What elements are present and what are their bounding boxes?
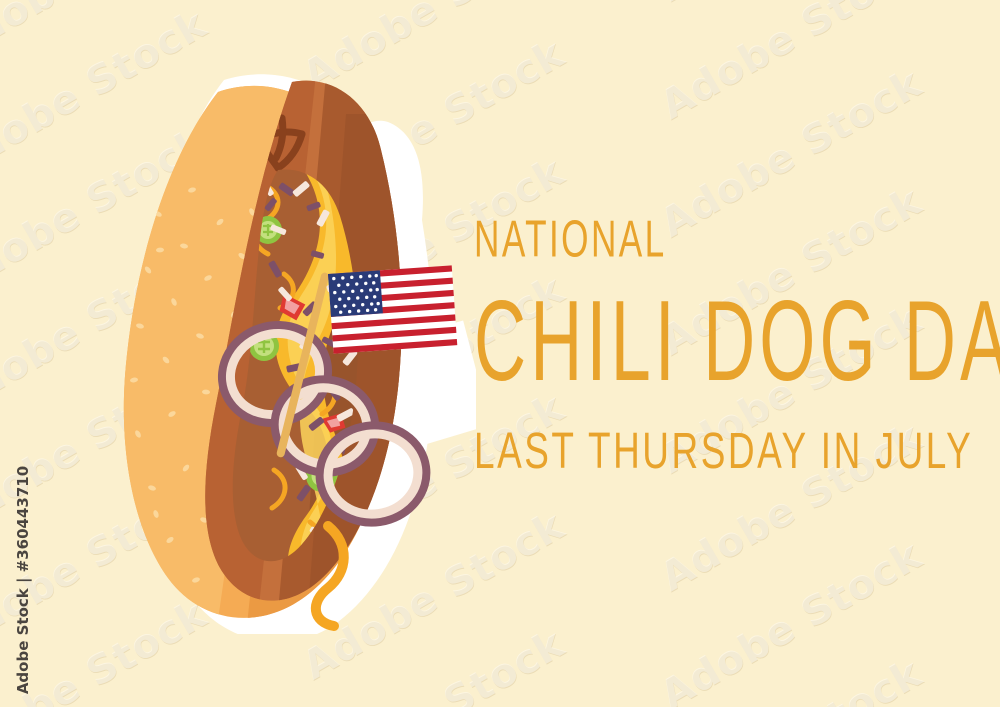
poster-canvas: Adobe Stock Adobe Stock Adobe Stock Adob…	[0, 0, 1000, 707]
watermark-row: Adobe Stock Adobe Stock Adobe Stock Adob…	[0, 0, 1000, 40]
headline-sub-line: LAST THURSDAY IN JULY	[474, 426, 869, 477]
adobe-stock-credit: Adobe Stock | #360443710	[6, 0, 40, 707]
chili-dog-illustration	[96, 74, 476, 634]
headline-main-line: CHILI DOG DAY	[474, 284, 859, 398]
headline-block: NATIONAL CHILI DOG DAY LAST THURSDAY IN …	[474, 214, 944, 470]
usa-flag	[328, 265, 457, 353]
credit-text: Adobe Stock | #360443710	[14, 466, 32, 694]
headline-top-line: NATIONAL	[474, 214, 850, 266]
